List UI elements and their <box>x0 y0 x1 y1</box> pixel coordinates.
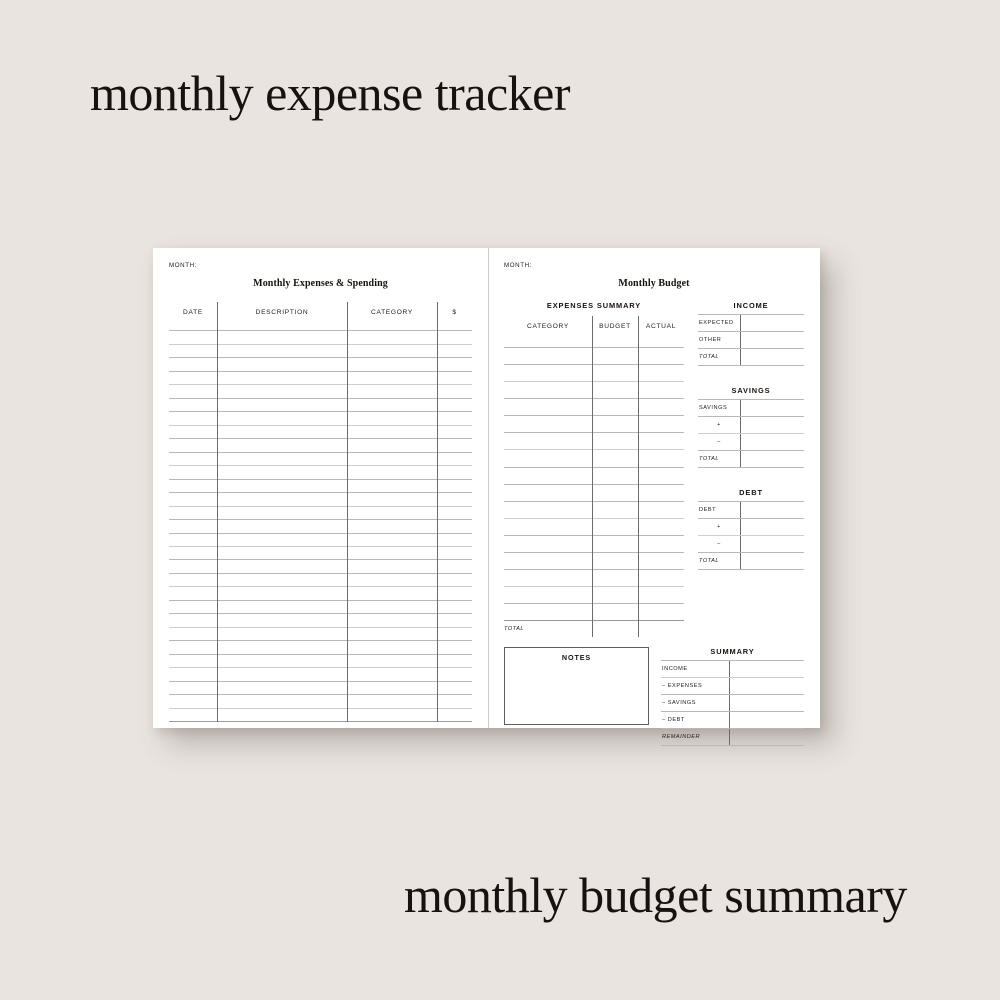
table-row[interactable] <box>169 547 472 560</box>
table-row[interactable] <box>504 348 684 365</box>
budget-side-column: INCOME EXPECTEDOTHERTOTAL SAVINGS SAVING… <box>698 301 804 637</box>
savings-title: SAVINGS <box>698 386 804 395</box>
expenses-table: DATE DESCRIPTION CATEGORY $ <box>169 302 472 722</box>
page-title-top: monthly expense tracker <box>90 64 570 122</box>
list-item[interactable]: – DEBT <box>661 711 804 728</box>
table-row[interactable] <box>504 502 684 519</box>
table-row[interactable] <box>169 385 472 398</box>
list-item[interactable]: EXPECTED <box>698 314 804 331</box>
expenses-summary-section: EXPENSES SUMMARY CATEGORY BUDGET ACTUAL … <box>504 301 684 637</box>
month-label-left: MONTH: <box>169 262 472 269</box>
table-row[interactable] <box>169 641 472 654</box>
expenses-summary-body <box>504 331 684 621</box>
income-section: INCOME EXPECTEDOTHERTOTAL <box>698 301 804 366</box>
table-row[interactable] <box>169 668 472 681</box>
debt-table: DEBT+–TOTAL <box>698 501 804 570</box>
list-item[interactable]: REMAINDER <box>661 728 804 746</box>
list-item[interactable]: DEBT <box>698 501 804 518</box>
expenses-summary-header: CATEGORY BUDGET ACTUAL <box>504 317 684 330</box>
debt-title: DEBT <box>698 488 804 497</box>
table-row[interactable] <box>169 601 472 614</box>
notes-box[interactable]: NOTES <box>504 647 649 725</box>
debt-section: DEBT DEBT+–TOTAL <box>698 488 804 570</box>
column-header-budget: BUDGET <box>592 323 638 330</box>
budget-page: MONTH: Monthly Budget EXPENSES SUMMARY C… <box>488 248 820 728</box>
row-label: – <box>698 439 740 445</box>
table-row[interactable] <box>504 433 684 450</box>
table-row[interactable] <box>169 709 472 722</box>
table-row[interactable] <box>504 399 684 416</box>
table-row[interactable] <box>504 570 684 587</box>
row-label: SAVINGS <box>698 405 741 411</box>
row-label: – <box>698 541 740 547</box>
column-header-date: DATE <box>169 309 217 316</box>
table-row[interactable] <box>169 412 472 425</box>
table-row[interactable] <box>169 560 472 573</box>
row-label: + <box>698 524 740 530</box>
list-item[interactable]: – EXPENSES <box>661 677 804 694</box>
table-row[interactable] <box>504 536 684 553</box>
table-row[interactable] <box>169 372 472 385</box>
list-item[interactable]: TOTAL <box>698 552 804 570</box>
table-row[interactable] <box>504 450 684 467</box>
summary-table: INCOME– EXPENSES– SAVINGS– DEBTREMAINDER <box>661 660 804 746</box>
table-row[interactable] <box>504 587 684 604</box>
table-row[interactable] <box>169 453 472 466</box>
table-row[interactable] <box>169 493 472 506</box>
table-row[interactable] <box>169 628 472 641</box>
table-row[interactable] <box>504 519 684 536</box>
row-label: OTHER <box>698 337 741 343</box>
list-item[interactable]: – <box>698 535 804 552</box>
table-row[interactable] <box>169 534 472 547</box>
expenses-table-header: DATE DESCRIPTION CATEGORY $ <box>169 302 472 316</box>
spacer <box>698 370 804 386</box>
expenses-summary-title: EXPENSES SUMMARY <box>504 301 684 310</box>
spacer <box>698 472 804 488</box>
summary-section: SUMMARY INCOME– EXPENSES– SAVINGS– DEBTR… <box>661 647 804 746</box>
table-row[interactable] <box>169 331 472 344</box>
table-row[interactable] <box>169 399 472 412</box>
column-header-description: DESCRIPTION <box>217 309 347 316</box>
expenses-summary-total-label: TOTAL <box>504 626 524 632</box>
month-label-right: MONTH: <box>504 262 804 269</box>
savings-section: SAVINGS SAVINGS+–TOTAL <box>698 386 804 468</box>
table-row[interactable] <box>169 520 472 533</box>
expenses-page-heading: Monthly Expenses & Spending <box>169 278 472 289</box>
budget-columns: EXPENSES SUMMARY CATEGORY BUDGET ACTUAL … <box>504 301 804 637</box>
expense-tracker-page: MONTH: Monthly Expenses & Spending DATE … <box>153 248 488 728</box>
row-label: – DEBT <box>661 717 730 723</box>
table-row[interactable] <box>169 695 472 708</box>
column-header-category: CATEGORY <box>347 309 437 316</box>
column-header-category: CATEGORY <box>504 323 592 330</box>
list-item[interactable]: SAVINGS <box>698 399 804 416</box>
row-label: REMAINDER <box>661 734 730 740</box>
table-row[interactable] <box>169 682 472 695</box>
table-row[interactable] <box>169 507 472 520</box>
table-row[interactable] <box>504 365 684 382</box>
column-header-amount: $ <box>437 309 472 316</box>
notes-title: NOTES <box>505 653 648 662</box>
expenses-row-lines <box>169 318 472 722</box>
table-row[interactable] <box>169 345 472 358</box>
table-row[interactable] <box>169 614 472 627</box>
list-item[interactable]: – <box>698 433 804 450</box>
table-row[interactable] <box>504 604 684 621</box>
table-row[interactable] <box>169 466 472 479</box>
expenses-summary-total-row: TOTAL <box>504 621 684 637</box>
expenses-table-body <box>169 318 472 722</box>
table-row[interactable] <box>504 416 684 433</box>
list-item[interactable]: OTHER <box>698 331 804 348</box>
table-row[interactable] <box>169 587 472 600</box>
savings-table: SAVINGS+–TOTAL <box>698 399 804 468</box>
table-row[interactable] <box>504 382 684 399</box>
list-item[interactable]: TOTAL <box>698 348 804 366</box>
table-row[interactable] <box>169 655 472 668</box>
budget-page-heading: Monthly Budget <box>504 278 804 289</box>
list-item[interactable]: + <box>698 518 804 535</box>
planner-spread: MONTH: Monthly Expenses & Spending DATE … <box>153 248 820 728</box>
table-row[interactable] <box>169 318 472 331</box>
summary-title: SUMMARY <box>661 647 804 656</box>
table-row[interactable] <box>504 331 684 348</box>
row-label: EXPECTED <box>698 320 741 326</box>
table-row[interactable] <box>169 426 472 439</box>
income-title: INCOME <box>698 301 804 310</box>
row-label: DEBT <box>698 507 741 513</box>
row-label: + <box>698 422 740 428</box>
row-label: – SAVINGS <box>661 700 730 706</box>
budget-bottom-row: NOTES SUMMARY INCOME– EXPENSES– SAVINGS–… <box>504 647 804 746</box>
table-row[interactable] <box>169 439 472 452</box>
column-header-actual: ACTUAL <box>638 323 684 330</box>
table-row[interactable] <box>504 468 684 485</box>
list-item[interactable]: – SAVINGS <box>661 694 804 711</box>
table-row[interactable] <box>169 480 472 493</box>
table-row[interactable] <box>169 358 472 371</box>
row-label: TOTAL <box>698 456 741 462</box>
row-label: TOTAL <box>698 354 741 360</box>
expenses-summary-row-lines <box>504 331 684 621</box>
table-row[interactable] <box>504 485 684 502</box>
row-label: – EXPENSES <box>661 683 730 689</box>
income-table: EXPECTEDOTHERTOTAL <box>698 314 804 366</box>
table-row[interactable] <box>504 553 684 570</box>
list-item[interactable]: TOTAL <box>698 450 804 468</box>
table-row[interactable] <box>169 574 472 587</box>
list-item[interactable]: INCOME <box>661 660 804 677</box>
row-label: INCOME <box>661 666 730 672</box>
page-title-bottom: monthly budget summary <box>404 866 907 924</box>
row-label: TOTAL <box>698 558 741 564</box>
list-item[interactable]: + <box>698 416 804 433</box>
